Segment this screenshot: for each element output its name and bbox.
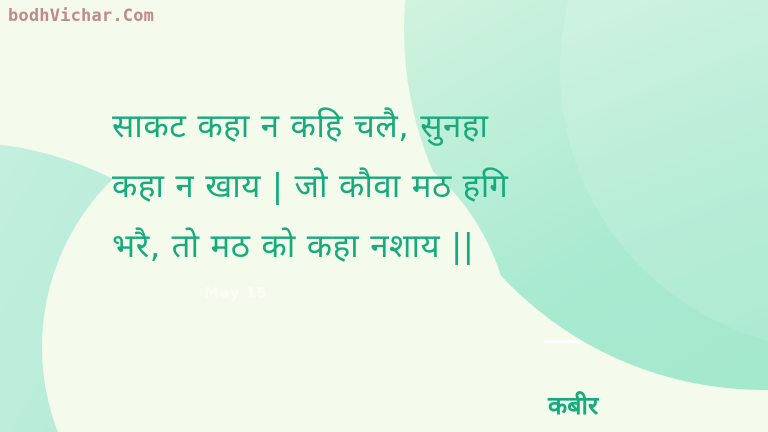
quote-card: bodhVichar.Com साकट कहा न कहि चलै, सुनहा…	[0, 0, 768, 432]
quote-line-3: भरै, तो मठ को कहा नशाय ||	[112, 216, 672, 276]
quote-line-1: साकट कहा न कहि चलै, सुनहा	[112, 96, 672, 156]
author-divider	[544, 340, 582, 343]
quote-text-block: साकट कहा न कहि चलै, सुनहा कहा न खाय | जो…	[112, 96, 672, 276]
date-watermark: May 15	[204, 284, 267, 302]
quote-line-2: कहा न खाय | जो कौवा मठ हगि	[112, 156, 672, 216]
author-name: कबीर	[548, 388, 598, 422]
site-watermark: bodhVichar.Com	[8, 6, 154, 26]
